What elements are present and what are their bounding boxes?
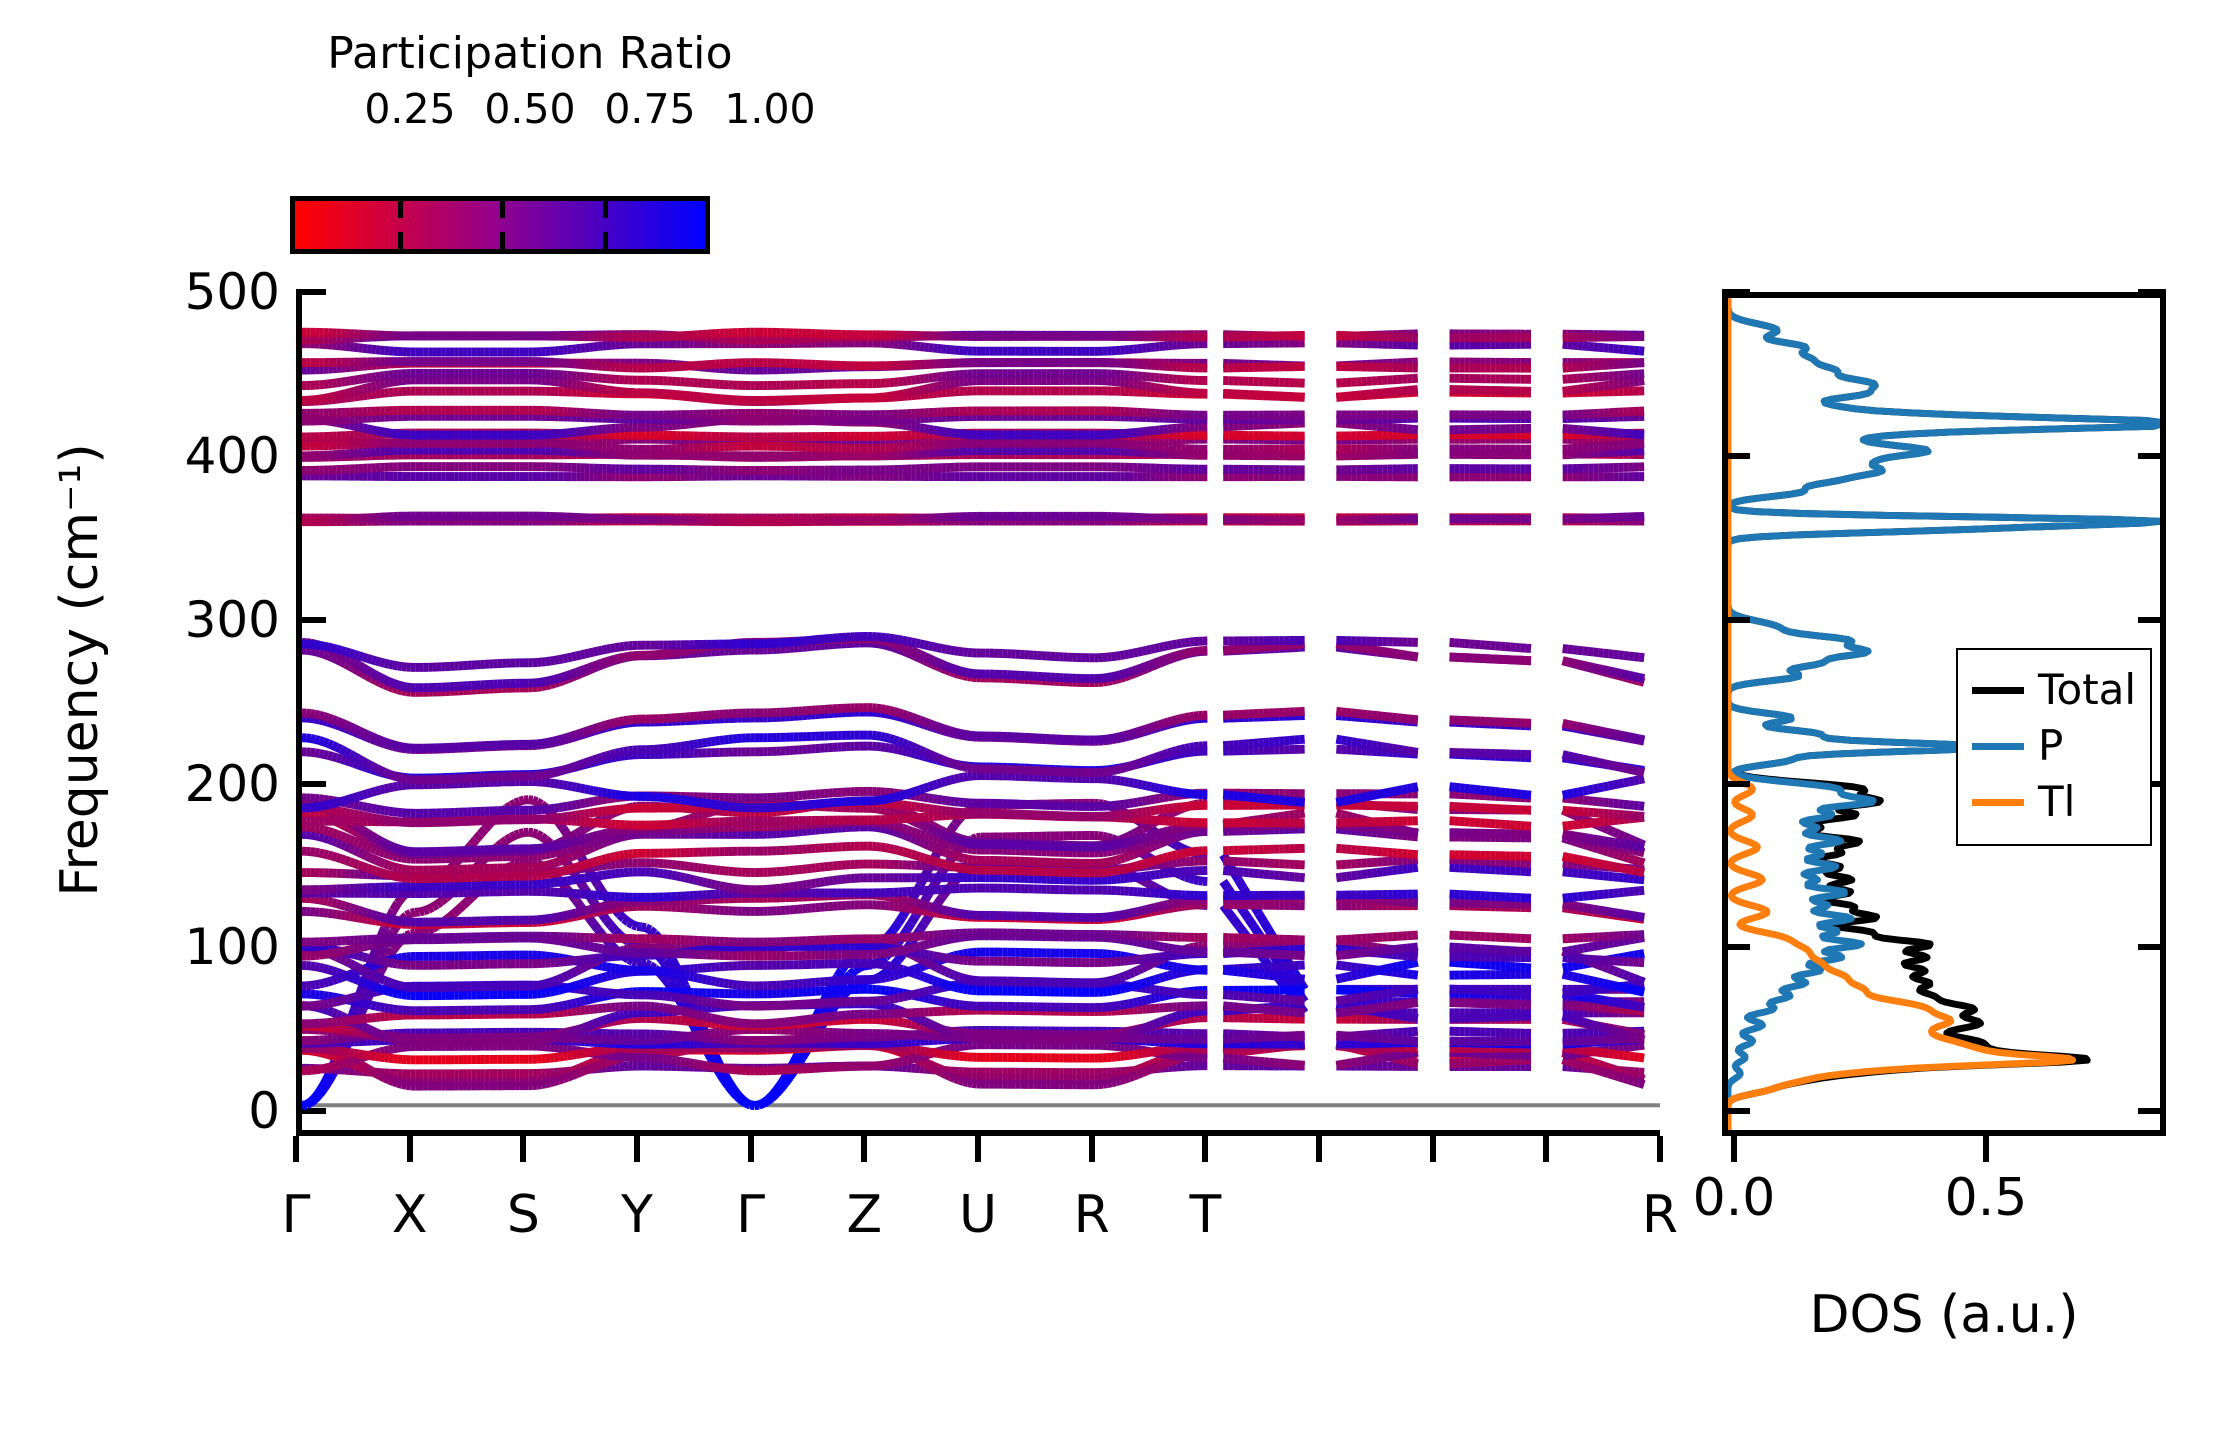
band-x-tick-label: Γ <box>736 1185 765 1245</box>
band-x-tick-label: Y <box>621 1185 653 1245</box>
dos-y-tick-mark <box>2138 944 2166 950</box>
dos-y-tick-mark <box>2138 1108 2166 1114</box>
band-x-tick-label: S <box>507 1185 540 1245</box>
band-x-tick-label: R <box>1074 1185 1110 1245</box>
band-curve-group <box>302 332 1644 1105</box>
phonon-band-structure-plot <box>296 292 1660 1136</box>
band-x-tick-mark <box>1543 1136 1549 1162</box>
dos-y-tick-mark <box>1722 453 1750 459</box>
dos-x-tick-mark <box>1983 1136 1989 1162</box>
band-x-tick-mark <box>1089 1136 1095 1162</box>
dos-y-tick-mark <box>2138 289 2166 295</box>
colorbar-tick-labels: 0.25 0.50 0.75 1.00 <box>290 85 770 137</box>
band-x-tick-mark <box>1202 1136 1208 1162</box>
colorbar-title: Participation Ratio <box>290 28 770 79</box>
dos-x-tick-label: 0.0 <box>1693 1168 1776 1228</box>
legend-item-total: Total <box>1972 662 2136 718</box>
band-y-axis-title: Frequency (cm⁻¹) <box>50 290 110 1050</box>
legend-line-p <box>1972 743 2024 750</box>
colorbar-tick-label: 0.50 <box>484 85 575 133</box>
band-x-tick-label: U <box>959 1185 997 1245</box>
colorbar-tick-mark <box>603 201 608 218</box>
band-y-tick-label: 400 <box>185 427 280 485</box>
band-x-tick-label: X <box>392 1185 428 1245</box>
dos-y-tick-mark <box>1722 944 1750 950</box>
colorbar-tick-mark <box>500 232 505 249</box>
dos-legend: Total P Tl <box>1956 648 2152 846</box>
colorbar-tick-mark <box>398 201 403 218</box>
band-x-tick-label: R <box>1642 1185 1678 1245</box>
dos-y-tick-mark <box>1722 781 1750 787</box>
participation-ratio-colorbar <box>290 196 710 254</box>
band-x-tick-mark <box>1316 1136 1322 1162</box>
band-x-tick-mark <box>634 1136 640 1162</box>
band-x-tick-mark <box>293 1136 299 1162</box>
dos-x-tick-label: 0.5 <box>1945 1168 2028 1228</box>
dos-y-tick-mark <box>1722 1108 1750 1114</box>
colorbar-tick-label: 0.25 <box>364 85 455 133</box>
dos-y-tick-mark <box>1722 617 1750 623</box>
band-y-tick-label: 500 <box>185 263 280 321</box>
band-y-tick-label: 0 <box>248 1082 280 1140</box>
legend-line-tl <box>1972 799 2024 806</box>
colorbar-tick-label: 1.00 <box>724 85 815 133</box>
band-x-tick-mark <box>975 1136 981 1162</box>
band-x-tick-label: Z <box>847 1185 883 1245</box>
legend-item-p: P <box>1972 718 2136 774</box>
dos-y-tick-mark <box>2138 453 2166 459</box>
figure-canvas: Participation Ratio 0.25 0.50 0.75 1.00 … <box>0 0 2222 1455</box>
band-x-tick-mark <box>407 1136 413 1162</box>
band-x-tick-label: Γ <box>282 1185 311 1245</box>
dos-x-tick-mark <box>1731 1136 1737 1162</box>
band-x-tick-label: T <box>1189 1185 1221 1245</box>
dos-y-tick-mark <box>2138 617 2166 623</box>
band-x-tick-mark <box>1657 1136 1663 1162</box>
colorbar-tick-mark <box>603 232 608 249</box>
band-y-tick-label: 100 <box>185 918 280 976</box>
band-x-tick-mark <box>1430 1136 1436 1162</box>
legend-label-tl: Tl <box>2038 781 2075 823</box>
band-x-tick-mark <box>861 1136 867 1162</box>
colorbar-tick-mark <box>398 232 403 249</box>
band-x-tick-mark <box>748 1136 754 1162</box>
band-curves-svg <box>302 292 1660 1130</box>
dos-x-axis-title: DOS (a.u.) <box>1722 1285 2166 1345</box>
colorbar-tick-label: 0.75 <box>604 85 695 133</box>
band-y-tick-labels: 500 400 300 200 100 0 <box>80 292 280 1136</box>
legend-item-tl: Tl <box>1972 774 2136 830</box>
band-y-tick-label: 200 <box>185 755 280 813</box>
legend-label-total: Total <box>2038 669 2136 711</box>
legend-label-p: P <box>2038 725 2063 767</box>
legend-line-total <box>1972 687 2024 694</box>
band-y-tick-label: 300 <box>185 591 280 649</box>
colorbar-tick-mark <box>500 201 505 218</box>
band-x-tick-mark <box>520 1136 526 1162</box>
dos-y-tick-mark <box>1722 289 1750 295</box>
